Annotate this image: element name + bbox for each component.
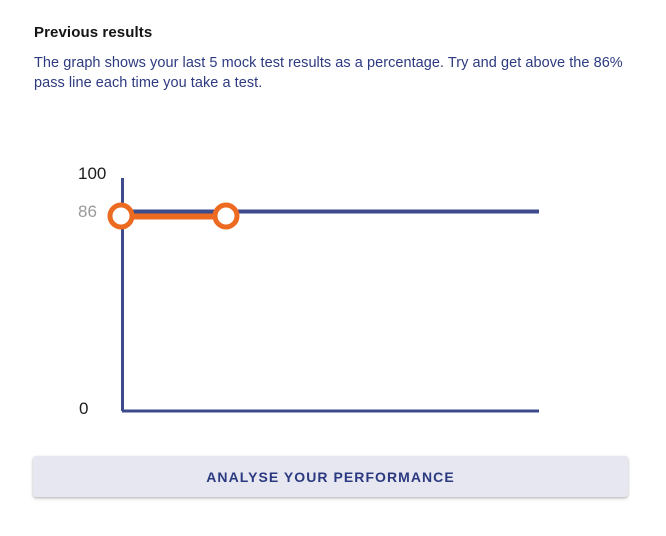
data-point-marker	[215, 205, 237, 227]
analyse-performance-button[interactable]: Analyse your performance	[33, 456, 628, 497]
panel-description: The graph shows your last 5 mock test re…	[34, 54, 626, 93]
data-point-marker	[110, 205, 132, 227]
results-chart: 100 86 0	[0, 140, 666, 440]
y-axis-tick-pass: 86	[78, 202, 97, 222]
previous-results-panel: Previous results The graph shows your la…	[0, 0, 666, 536]
y-axis-tick-max: 100	[78, 164, 106, 184]
chart-canvas	[0, 140, 666, 440]
page-title: Previous results	[34, 24, 152, 41]
y-axis-tick-min: 0	[79, 399, 88, 419]
